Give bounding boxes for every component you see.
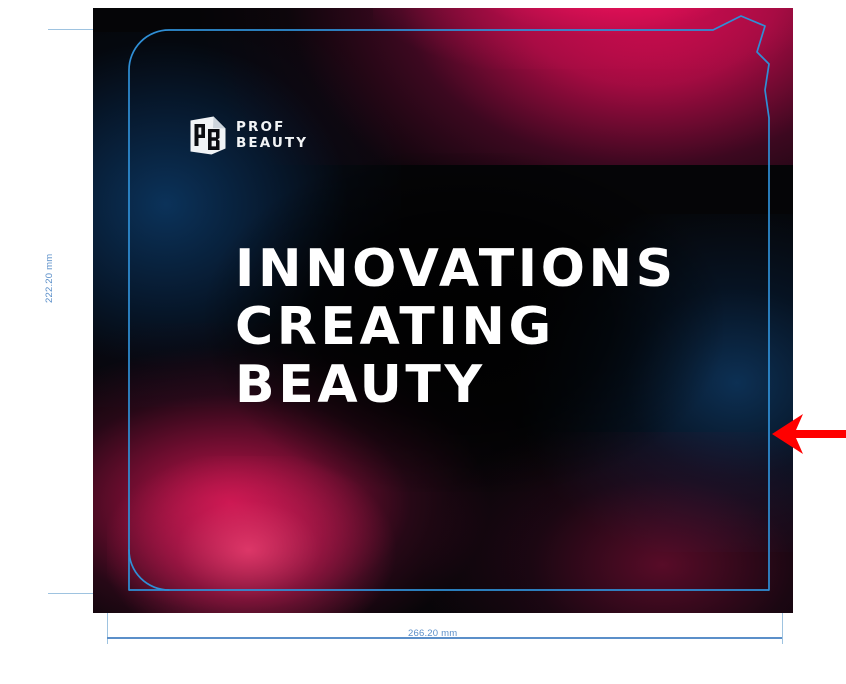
left-arrow-icon [770, 411, 846, 457]
brand-wordmark: PROF BEAUTY [236, 120, 308, 151]
wordmark-line-2: BEAUTY [236, 136, 308, 151]
headline-line-2: CREATING [235, 298, 677, 356]
gradient-glow-bottom-pink [107, 456, 429, 613]
artwork-panel[interactable]: PROF BEAUTY INNOVATIONS CREATING BEAUTY [93, 8, 793, 613]
brand-logo: PROF BEAUTY [189, 115, 308, 156]
gradient-glow-bottom-right [415, 432, 793, 614]
artwork-preview-stage: 222.20 mm 266.20 mm PROF BEAUTY [0, 0, 846, 684]
gradient-glow-top-edge [373, 8, 793, 69]
headline-line-3: BEAUTY [235, 356, 677, 414]
wordmark-line-1: PROF [236, 120, 308, 135]
dimension-label-height: 222.20 mm [44, 254, 55, 303]
headline-text: INNOVATIONS CREATING BEAUTY [235, 240, 677, 415]
dimension-label-width: 266.20 mm [408, 628, 457, 639]
headline-line-1: INNOVATIONS [235, 240, 677, 298]
pb-monogram-icon [189, 115, 227, 156]
